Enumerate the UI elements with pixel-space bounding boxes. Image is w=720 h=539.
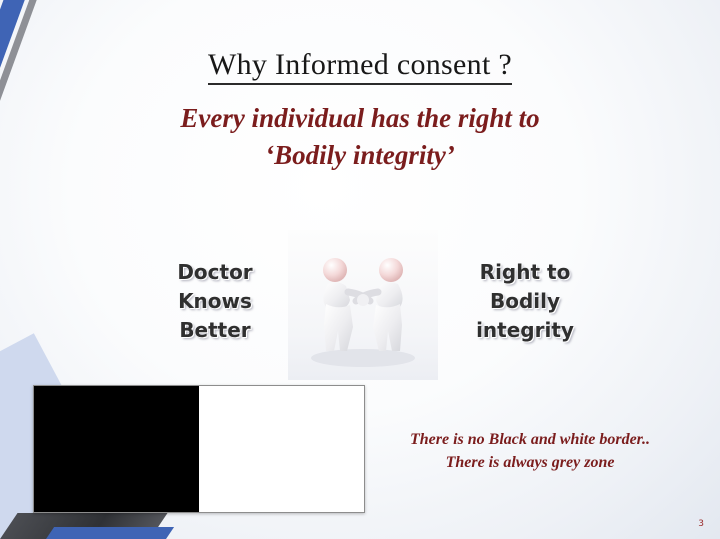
slide: Why Informed consent ? Every individual … [0, 0, 720, 539]
caption-left-line-2: Knows [150, 287, 280, 316]
caption-right-line-1: Right to [450, 258, 600, 287]
caption-right-line-3: integrity [450, 316, 600, 345]
caption-left-line-1: Doctor [150, 258, 280, 287]
black-half [34, 386, 199, 512]
white-half [199, 386, 364, 512]
subtitle-line-1: Every individual has the right to [0, 100, 720, 137]
slide-title-text: Why Informed consent ? [208, 48, 512, 85]
caption-right-to-bodily-integrity: Right to Bodily integrity [450, 258, 600, 345]
grey-zone-note: There is no Black and white border.. The… [380, 428, 680, 474]
page-number: 3 [698, 519, 704, 529]
caption-doctor-knows-better: Doctor Knows Better [150, 258, 280, 345]
caption-left-line-3: Better [150, 316, 280, 345]
subtitle-line-2: ‘Bodily integrity’ [0, 137, 720, 174]
handshake-figures-icon [288, 230, 438, 380]
decorative-bottom-sliver-blue [46, 527, 174, 539]
black-white-image [33, 385, 365, 513]
slide-subtitle: Every individual has the right to ‘Bodil… [0, 100, 720, 173]
caption-right-line-2: Bodily [450, 287, 600, 316]
note-line-2: There is always grey zone [380, 451, 680, 474]
slide-title: Why Informed consent ? [0, 48, 720, 82]
note-line-1: There is no Black and white border.. [380, 428, 680, 451]
